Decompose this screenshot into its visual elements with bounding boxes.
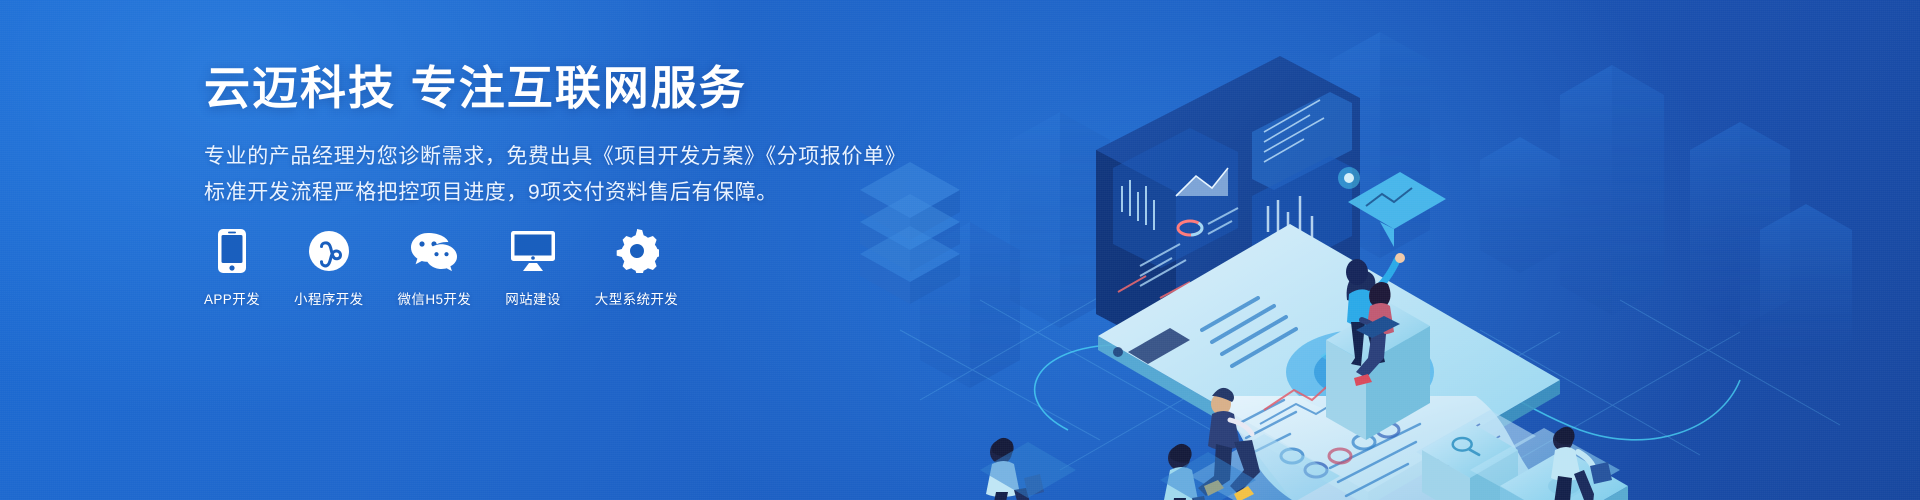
service-label: APP开发 xyxy=(204,288,260,308)
isometric-tech-teamwork-illustration xyxy=(860,0,1920,500)
service-item-website[interactable]: 网站建设 xyxy=(505,228,561,308)
service-item-app[interactable]: APP开发 xyxy=(204,228,260,308)
service-label: 网站建设 xyxy=(505,288,561,308)
gear-icon xyxy=(615,228,659,274)
hero-text-block: 云迈科技 专注互联网服务 专业的产品经理为您诊断需求，免费出具《项目开发方案》《… xyxy=(204,62,904,211)
page-title: 云迈科技 专注互联网服务 xyxy=(204,62,904,115)
subtitle-line-2: 标准开发流程严格把控项目进度，9项交付资料售后有保障。 xyxy=(204,175,904,211)
subtitle-line-1: 专业的产品经理为您诊断需求，免费出具《项目开发方案》《分项报价单》 xyxy=(204,139,904,175)
service-label: 小程序开发 xyxy=(294,288,364,308)
service-list: APP开发 小程序开发 微信 xyxy=(204,228,678,308)
monitor-icon xyxy=(510,228,556,274)
service-item-large-system[interactable]: 大型系统开发 xyxy=(595,228,678,308)
service-label: 微信H5开发 xyxy=(398,288,472,308)
mobile-phone-icon xyxy=(217,228,247,274)
service-label: 大型系统开发 xyxy=(595,288,678,308)
floating-tiles xyxy=(980,442,1256,500)
hero-subtitle: 专业的产品经理为您诊断需求，免费出具《项目开发方案》《分项报价单》 标准开发流程… xyxy=(204,139,904,211)
mini-program-icon xyxy=(308,228,350,274)
hero-banner: 云迈科技 专注互联网服务 专业的产品经理为您诊断需求，免费出具《项目开发方案》《… xyxy=(0,0,1920,500)
service-item-mini-program[interactable]: 小程序开发 xyxy=(294,228,364,308)
service-item-wechat-h5[interactable]: 微信H5开发 xyxy=(398,228,472,308)
wechat-icon xyxy=(410,228,458,274)
